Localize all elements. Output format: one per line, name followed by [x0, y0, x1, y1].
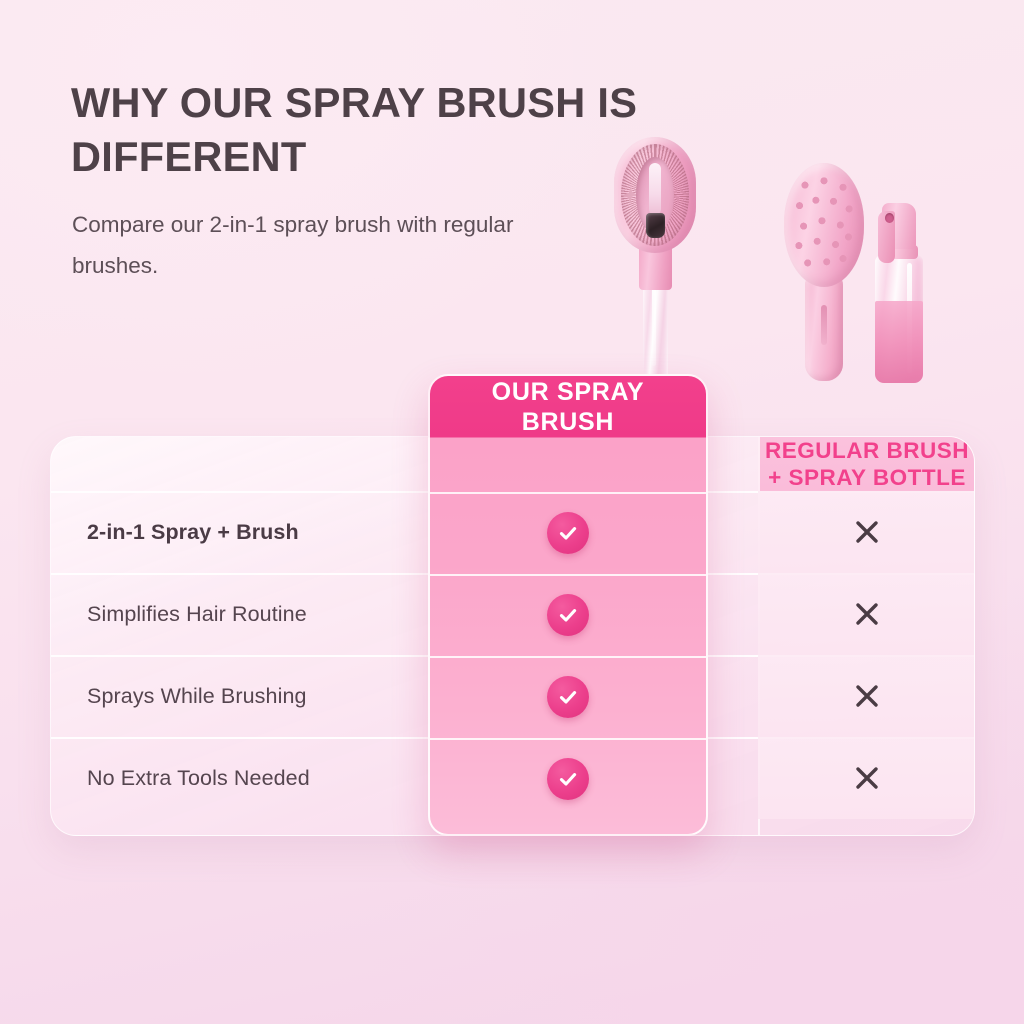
- table-row: Sprays While Brushing: [51, 655, 429, 737]
- cell-regular: [758, 655, 975, 737]
- cell-ours: [430, 656, 706, 738]
- cross-icon: [852, 681, 882, 711]
- spray-brush-nozzle: [646, 213, 665, 238]
- column-header-ours-line1: OUR SPRAY: [492, 377, 645, 408]
- cell-regular: [758, 573, 975, 655]
- page-subtitle: Compare our 2-in-1 spray brush with regu…: [72, 205, 542, 287]
- spray-brush-product-image: [596, 137, 714, 377]
- column-header-ours: OUR SPRAY BRUSH: [430, 376, 706, 438]
- cross-icon: [852, 599, 882, 629]
- table-row: Simplifies Hair Routine: [51, 573, 429, 655]
- column-header-regular-line1: REGULAR BRUSH: [765, 437, 969, 464]
- spray-bottle-liquid: [875, 301, 923, 383]
- column-header-ours-line2: BRUSH: [522, 407, 614, 438]
- column-header-regular: REGULAR BRUSH + SPRAY BOTTLE: [758, 437, 975, 491]
- check-icon: [547, 594, 589, 636]
- cell-regular: [758, 737, 975, 819]
- feature-label: Simplifies Hair Routine: [51, 602, 307, 627]
- feature-label: 2-in-1 Spray + Brush: [51, 520, 299, 545]
- check-icon: [547, 676, 589, 718]
- feature-label: Sprays While Brushing: [51, 684, 307, 709]
- cell-regular: [758, 491, 975, 573]
- table-row: 2-in-1 Spray + Brush: [51, 491, 429, 573]
- spray-bottle-product-image: [872, 203, 926, 383]
- cross-icon: [852, 763, 882, 793]
- cell-ours: [430, 738, 706, 820]
- infographic-canvas: WHY OUR SPRAY BRUSH IS DIFFERENT Compare…: [0, 0, 1024, 1024]
- table-row: No Extra Tools Needed: [51, 737, 429, 819]
- check-icon: [547, 758, 589, 800]
- cell-ours: [430, 574, 706, 656]
- feature-label: No Extra Tools Needed: [51, 766, 310, 791]
- spray-bottle-nozzle: [885, 213, 894, 223]
- regular-brush-bristles: [790, 170, 858, 278]
- regular-brush-product-image: [778, 163, 870, 381]
- cell-ours: [430, 492, 706, 574]
- cross-icon: [852, 517, 882, 547]
- regular-brush-handle: [805, 271, 843, 381]
- column-highlight-ours: OUR SPRAY BRUSH: [428, 374, 708, 836]
- column-header-regular-line2: + SPRAY BOTTLE: [768, 464, 966, 491]
- check-icon: [547, 512, 589, 554]
- spray-brush-slot: [649, 163, 661, 215]
- spray-brush-handle: [643, 282, 668, 378]
